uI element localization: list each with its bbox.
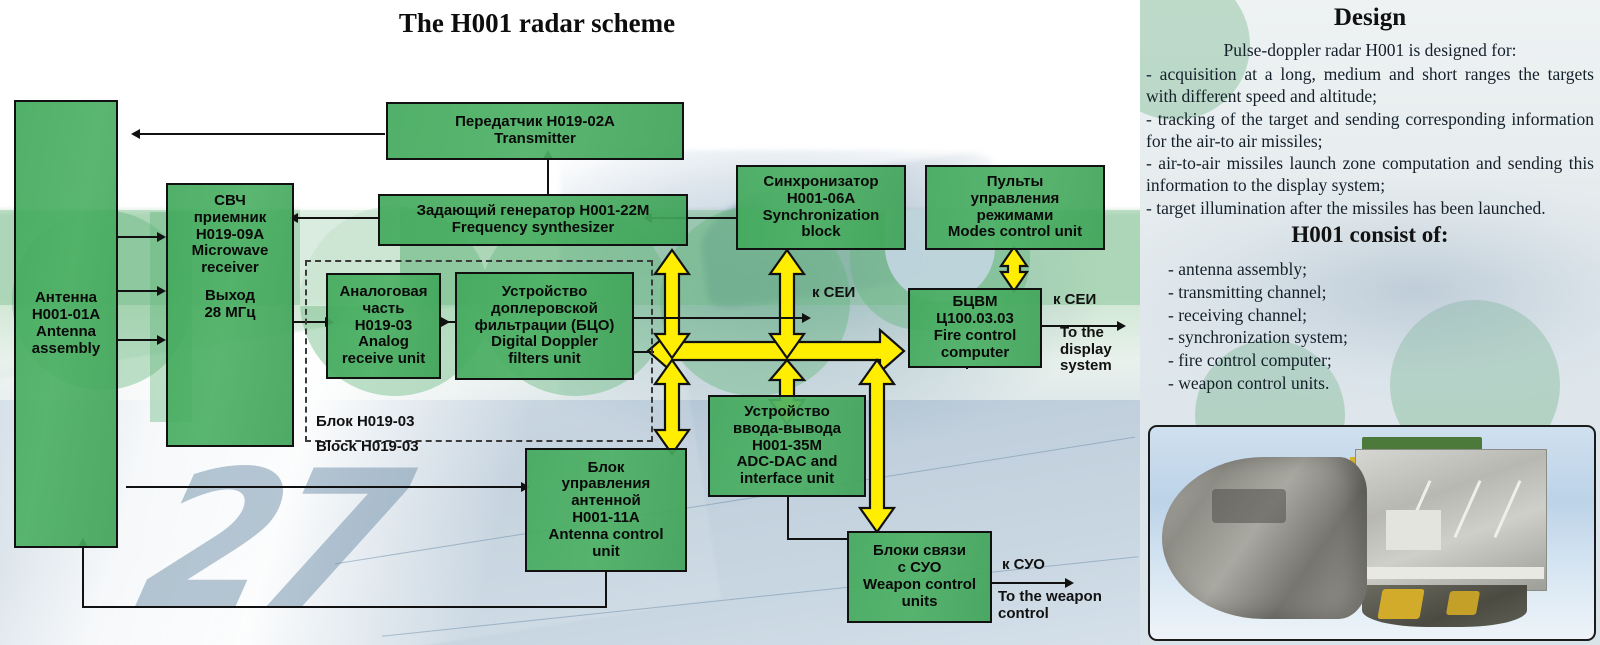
photo-base-yellow-2 [1446,591,1480,615]
block-fire-control-computer[interactable]: БЦВМ Ц100.03.03 Fire control computer [908,288,1042,368]
design-item-2: - air-to-air missiles launch zone comput… [1146,153,1594,196]
photo-base-yellow [1377,589,1424,619]
arrow-antenna-mw-2 [157,286,166,296]
arrow-antenna-mw-3 [157,335,166,345]
design-heading: Design [1140,4,1600,32]
label-to-weapon-control: To the weapon control [998,589,1102,622]
sync-line-0: Синхронизатор [763,174,878,191]
dashed-label-en: Block H019-03 [316,438,419,455]
antenna-line-2: Antenna [36,324,96,341]
line-weapon-out [990,582,1065,584]
adcdac-line-3: ADC-DAC and [737,454,838,471]
doppler-line-1: доплеровской [491,301,598,318]
block-analog-receive-unit[interactable]: Аналоговая часть H019-03 Analog receive … [326,273,441,379]
line-adcdac-down [787,497,789,539]
design-intro: Pulse-doppler radar H001 is designed for… [1152,40,1588,62]
weapon-line-0: Блоки связи [873,543,966,560]
photo-radome [1162,457,1367,619]
actrl-line-1: управления [562,476,651,493]
arrow-weapon-out [1065,578,1074,588]
arrow-antenna-mw-1 [157,232,166,242]
analog-line-2: H019-03 [355,318,413,335]
sync-line-2: Synchronization [763,208,880,225]
mw-line-1: приемник [194,210,266,227]
label-to-sei-bus: к СЕИ [812,284,855,301]
adcdac-line-4: interface unit [740,471,834,488]
block-transmitter[interactable]: Передатчик H019-02A Transmitter [386,102,684,160]
doppler-line-0: Устройство [502,284,588,301]
sync-line-3: block [801,224,840,241]
block-adc-dac-interface-unit[interactable]: Устройство ввода-вывода H001-35М ADC-DAC… [708,395,866,497]
arrow-fcc-display [1117,321,1126,331]
actrl-line-0: Блок [588,460,625,477]
photo-strut-3 [1494,480,1522,538]
modes-line-2: режимами [977,208,1054,225]
consist-item-1: - transmitting channel; [1168,281,1588,304]
analog-line-3: Analog [358,334,409,351]
block-weapon-control-units[interactable]: Блоки связи с СУО Weapon control units [847,531,992,623]
label-to-sei-fcc: к СЕИ [1053,291,1096,308]
photo-panel-plate [1386,510,1441,550]
doppler-line-3: Digital Doppler [491,334,598,351]
mw-line-2: H019-09A [196,227,264,244]
radar-antenna-photo [1148,425,1596,641]
block-antenna-control-unit[interactable]: Блок управления антенной H001-11A Antenn… [525,448,687,572]
design-item-0: - acquisition at a long, medium and shor… [1146,64,1594,107]
arrow-transmitter-antenna [131,129,140,139]
modes-line-0: Пульты [987,174,1044,191]
mw-out-line-0: Выход [205,288,255,305]
sync-line-1: H001-06A [787,191,855,208]
consist-item-3: - synchronization system; [1168,326,1588,349]
display-line-2: system [1060,358,1112,375]
fcc-line-1: Ц100.03.03 [936,311,1014,328]
label-to-suo: к СУО [1002,556,1045,573]
line-adcdac-weapon [787,538,847,540]
fcc-line-3: computer [941,345,1009,362]
doppler-line-4: filters unit [508,351,581,368]
analog-line-1: часть [363,301,405,318]
analog-line-0: Аналоговая [339,284,427,301]
fcc-line-0: БЦВМ [952,294,997,311]
mw-line-3: Microwave [192,243,269,260]
weapon-line-1: с СУО [898,560,942,577]
weaponlbl-line-1: control [998,606,1102,623]
weaponlbl-line-0: To the weapon [998,589,1102,606]
mw-line-4: receiver [201,260,259,277]
consist-heading: H001 consist of: [1140,222,1600,248]
adcdac-line-1: ввода-вывода [733,421,841,438]
page-title: The H001 radar scheme [372,8,702,39]
analog-line-4: receive unit [342,351,425,368]
line-antenna-actrl [126,486,521,488]
fsynth-line-0: Задающий генератор H001-22М [417,203,650,220]
block-microwave-receiver[interactable]: СВЧ приемник H019-09A Microwave receiver… [166,183,294,447]
consist-item-5: - weapon control units. [1168,372,1588,395]
actrl-line-3: H001-11A [572,510,640,527]
diagram-root: 27 The H001 radar scheme [0,0,1600,645]
line-fsynth-mw [298,217,378,219]
modes-line-1: управления [971,191,1060,208]
block-digital-doppler-filters-unit[interactable]: Устройство доплеровской фильтрации (БЦО)… [455,272,634,380]
antenna-line-0: Антенна [35,290,97,307]
line-antenna-mw-3 [117,339,157,341]
actrl-line-2: антенной [571,493,641,510]
consist-list: - antenna assembly; - transmitting chann… [1168,258,1588,395]
arrow-to-sei-bus [802,313,811,323]
consist-item-2: - receiving channel; [1168,304,1588,327]
mw-line-0: СВЧ [214,193,246,210]
photo-unit-base [1362,585,1527,627]
design-item-1: - tracking of the target and sending cor… [1146,109,1594,152]
display-line-0: To the [1060,325,1112,342]
line-transmitter-antenna [140,133,385,135]
block-synchronization[interactable]: Синхронизатор H001-06A Synchronization b… [736,165,906,250]
consist-item-0: - antenna assembly; [1168,258,1588,281]
weapon-line-3: units [902,594,938,611]
actrl-line-4: Antenna control [549,527,664,544]
line-fsynth-transmitter [547,157,549,195]
design-item-3: - target illumination after the missiles… [1146,198,1594,220]
dashed-label-ru: Блок H019-03 [316,413,415,430]
adcdac-line-2: H001-35М [752,438,822,455]
display-line-1: display [1060,342,1112,359]
line-to-sei-bus [634,317,802,319]
photo-strut-2 [1454,480,1482,538]
antenna-line-1: H001-01A [32,307,100,324]
label-to-display-system: To the display system [1060,325,1112,375]
consist-item-4: - fire control computer; [1168,349,1588,372]
transmitter-line-0: Передатчик H019-02A [455,114,615,131]
line-actrl-up [82,545,84,607]
photo-white-strip [1356,567,1544,579]
line-actrl-down [605,571,607,608]
block-modes-control-unit[interactable]: Пульты управления режимами Modes control… [925,165,1105,250]
modes-line-3: Modes control unit [948,224,1082,241]
block-antenna-assembly[interactable]: Антенна H001-01A Antenna assembly [14,100,118,548]
adcdac-line-0: Устройство [744,404,830,421]
transmitter-line-1: Transmitter [494,131,576,148]
line-antenna-mw-2 [117,290,157,292]
weapon-line-2: Weapon control [863,577,976,594]
actrl-line-5: unit [592,544,620,561]
antenna-line-3: assembly [32,341,100,358]
block-frequency-synthesizer[interactable]: Задающий генератор H001-22М Frequency sy… [378,194,688,246]
line-actrl-back [82,606,607,608]
line-antenna-mw-1 [117,236,157,238]
doppler-line-2: фильтрации (БЦО) [475,318,615,335]
fcc-line-2: Fire control [934,328,1017,345]
mw-out-line-1: 28 МГц [204,305,255,322]
fsynth-line-1: Frequency synthesizer [452,220,615,237]
